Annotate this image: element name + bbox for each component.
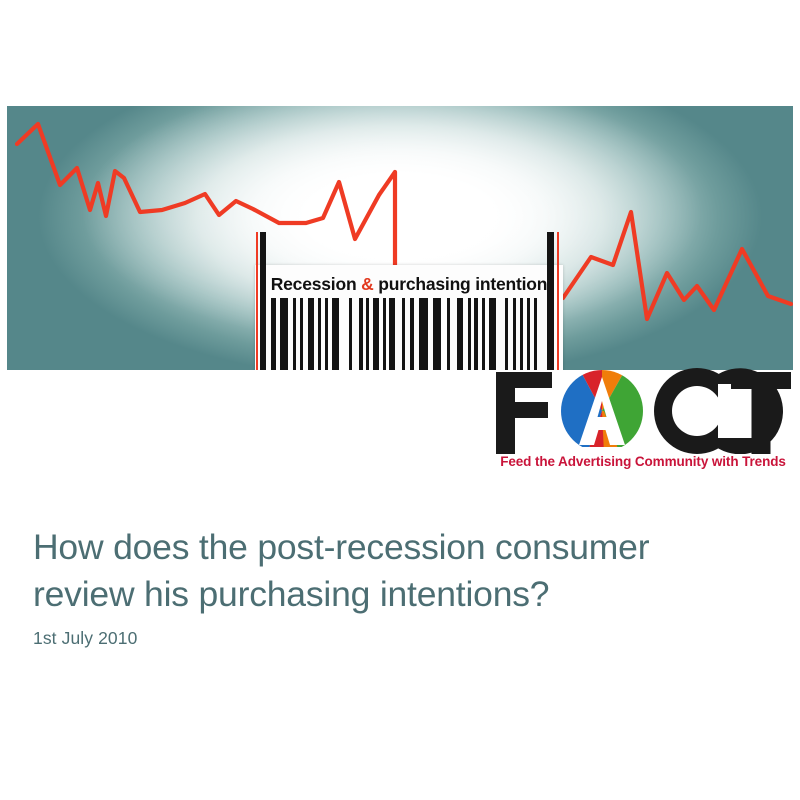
- fact-logo-tagline: Feed the Advertising Community with Tren…: [492, 454, 794, 469]
- trend-line-right: [563, 212, 791, 319]
- barcode-bar: [383, 298, 386, 370]
- barcode-bar: [482, 298, 485, 370]
- barcode-bar: [489, 298, 496, 370]
- page-date: 1st July 2010: [33, 628, 137, 649]
- fact-logo-letter-f: [496, 372, 552, 454]
- barcode-bar: [410, 298, 414, 370]
- barcode-bar: [527, 298, 530, 370]
- barcode-graphic: Recession & purchasing intention: [255, 265, 563, 370]
- barcode-bar: [349, 298, 352, 370]
- barcode-bar: [389, 298, 395, 370]
- barcode-bar: [325, 298, 328, 370]
- barcode-bar: [373, 298, 379, 370]
- barcode-bar: [271, 298, 276, 370]
- barcode-caption: Recession & purchasing intention: [255, 271, 563, 297]
- barcode-bar: [318, 298, 321, 370]
- fact-logo-letter-a: [554, 368, 650, 454]
- barcode-bar: [534, 298, 537, 370]
- page-title: How does the post-recession consumer rev…: [33, 524, 753, 618]
- recession-banner-image: Recession & purchasing intention: [7, 106, 793, 370]
- barcode-bar: [505, 298, 508, 370]
- barcode-bar: [419, 298, 428, 370]
- barcode-bar: [474, 298, 478, 370]
- barcode-bar: [366, 298, 369, 370]
- fact-logo-mark: [492, 368, 794, 454]
- barcode-caption-ampersand: &: [361, 274, 373, 294]
- barcode-bar: [402, 298, 405, 370]
- barcode-bar: [457, 298, 463, 370]
- barcode-bar: [293, 298, 296, 370]
- barcode-bar: [513, 298, 516, 370]
- fact-logo: Feed the Advertising Community with Tren…: [492, 368, 794, 478]
- barcode-bar: [520, 298, 523, 370]
- barcode-bar: [359, 298, 363, 370]
- barcode-bar: [280, 298, 288, 370]
- barcode-caption-after: purchasing intention: [374, 274, 548, 294]
- barcode-bar: [433, 298, 441, 370]
- barcode-bar: [447, 298, 450, 370]
- barcode-bar: [308, 298, 314, 370]
- barcode-bars: [255, 298, 563, 370]
- barcode-bar: [300, 298, 303, 370]
- barcode-bar: [332, 298, 339, 370]
- barcode-caption-before: Recession: [271, 274, 361, 294]
- barcode-bar: [468, 298, 471, 370]
